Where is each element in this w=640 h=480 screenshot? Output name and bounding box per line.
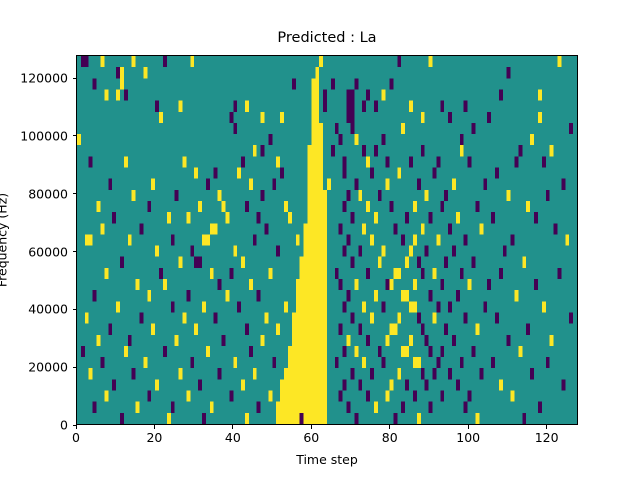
y-tick-mark xyxy=(73,251,77,252)
x-tick-label: 0 xyxy=(72,430,80,445)
x-axis-label: Time step xyxy=(76,452,578,467)
x-tick-mark xyxy=(389,425,390,429)
y-tick-mark xyxy=(73,78,77,79)
figure-canvas: Predicted : La Time step Frequency (Hz) … xyxy=(0,0,640,480)
y-tick-mark xyxy=(73,135,77,136)
plot-area xyxy=(76,55,578,425)
x-tick-mark xyxy=(232,425,233,429)
y-tick-label: 100000 xyxy=(20,128,68,143)
x-tick-label: 100 xyxy=(456,430,480,445)
x-tick-label: 60 xyxy=(303,430,319,445)
y-tick-label: 20000 xyxy=(28,360,68,375)
y-axis-label: Frequency (Hz) xyxy=(0,193,10,287)
y-tick-mark xyxy=(73,309,77,310)
x-tick-label: 20 xyxy=(146,430,162,445)
y-tick-label: 80000 xyxy=(28,186,68,201)
y-tick-label: 40000 xyxy=(28,302,68,317)
x-tick-mark xyxy=(154,425,155,429)
x-tick-mark xyxy=(546,425,547,429)
y-tick-mark xyxy=(73,367,77,368)
x-tick-label: 40 xyxy=(225,430,241,445)
x-tick-mark xyxy=(76,425,77,429)
page-title: Predicted : La xyxy=(76,30,578,47)
x-tick-mark xyxy=(468,425,469,429)
heatmap-image xyxy=(77,56,577,424)
y-tick-mark xyxy=(73,193,77,194)
y-tick-label: 60000 xyxy=(28,244,68,259)
y-tick-label: 120000 xyxy=(20,71,68,86)
y-tick-mark xyxy=(73,425,77,426)
x-tick-mark xyxy=(311,425,312,429)
x-tick-label: 80 xyxy=(382,430,398,445)
x-tick-label: 120 xyxy=(535,430,559,445)
y-tick-label: 0 xyxy=(60,418,68,433)
